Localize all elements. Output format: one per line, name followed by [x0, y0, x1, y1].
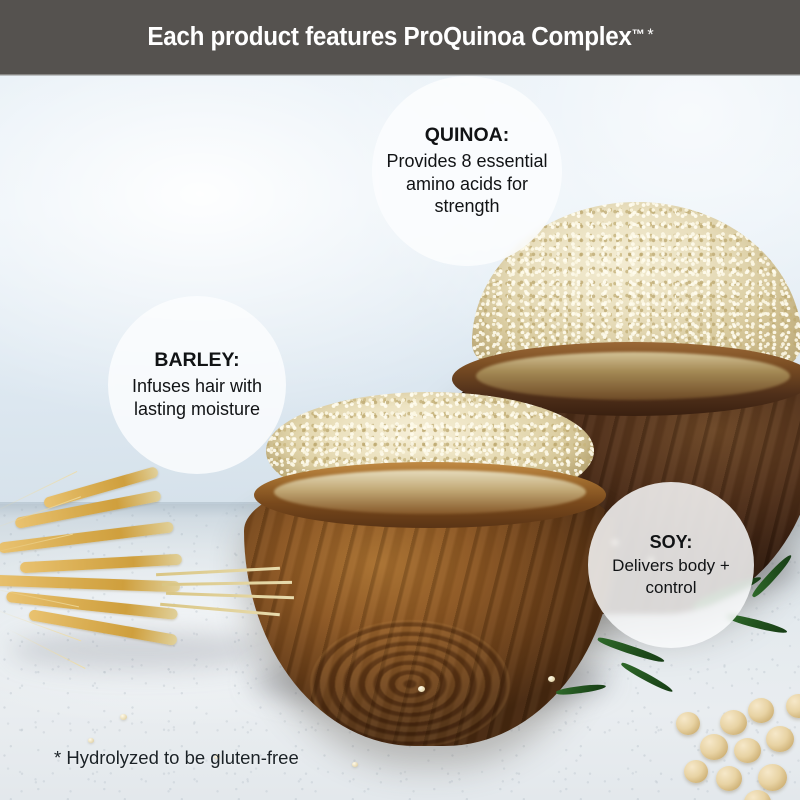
soybean [684, 760, 708, 783]
infographic-canvas: Each product features ProQuinoa Complex™… [0, 0, 800, 800]
soybean [720, 710, 747, 735]
soybean [700, 734, 728, 760]
soybean [766, 726, 794, 752]
callout-bubble-soy[interactable]: SOY: Delivers body + control [588, 482, 754, 648]
spilled-grain [88, 738, 94, 743]
wood-knot [310, 620, 510, 746]
header-banner: Each product features ProQuinoa Complex™… [0, 0, 800, 74]
callout-body-barley: Infuses hair with lasting moisture [112, 375, 282, 421]
page-title: Each product features ProQuinoa Complex™… [147, 23, 653, 52]
soybean [758, 764, 787, 791]
callout-bubble-barley[interactable]: BARLEY: Infuses hair with lasting moistu… [108, 296, 286, 474]
asterisk-marker: * [647, 25, 653, 44]
callout-title-barley: BARLEY: [154, 349, 239, 372]
header-divider [0, 74, 800, 76]
soybean [748, 698, 774, 723]
callout-title-soy: SOY: [650, 532, 693, 553]
soybean [734, 738, 761, 763]
header-title-text: Each product features ProQuinoa Complex [147, 23, 631, 51]
trademark-symbol: ™ [631, 26, 644, 42]
spilled-grain [418, 686, 425, 692]
soybean [676, 712, 700, 735]
spilled-grain [548, 676, 555, 682]
callout-body-quinoa: Provides 8 essential amino acids for str… [378, 150, 556, 219]
soybean [716, 766, 742, 791]
callout-body-soy: Delivers body + control [593, 555, 749, 598]
spilled-grain [352, 762, 358, 767]
footnote-text: * Hydrolyzed to be gluten-free [54, 747, 299, 769]
callout-title-quinoa: QUINOA: [425, 124, 510, 147]
spilled-grain [120, 714, 127, 720]
callout-bubble-quinoa[interactable]: QUINOA: Provides 8 essential amino acids… [372, 76, 562, 266]
bowl-front-inner-rim [274, 470, 586, 514]
wheat-stalks [0, 474, 300, 704]
